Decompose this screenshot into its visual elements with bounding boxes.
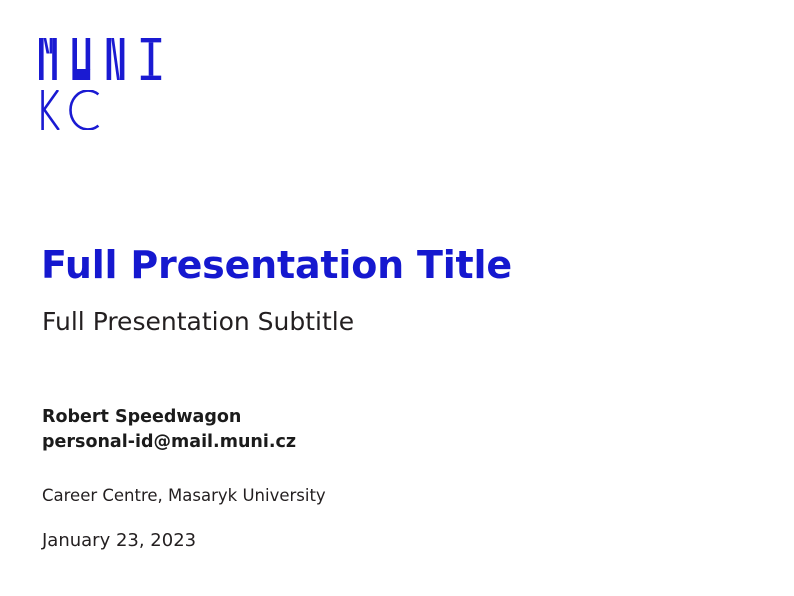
muni-kc-logo xyxy=(39,38,279,138)
muni-wordmark-icon xyxy=(39,38,179,80)
presentation-title-slide: Full Presentation Title Full Presentatio… xyxy=(0,0,794,596)
author-block: Robert Speedwagon personal-id@mail.muni.… xyxy=(42,405,296,455)
author-affiliation: Career Centre, Masaryk University xyxy=(42,485,326,507)
page-subtitle: Full Presentation Subtitle xyxy=(42,306,354,338)
author-email: personal-id@mail.muni.cz xyxy=(42,430,296,455)
kc-wordmark-icon xyxy=(40,90,110,130)
page-title: Full Presentation Title xyxy=(41,243,512,287)
author-name: Robert Speedwagon xyxy=(42,405,296,430)
presentation-date: January 23, 2023 xyxy=(42,529,196,553)
